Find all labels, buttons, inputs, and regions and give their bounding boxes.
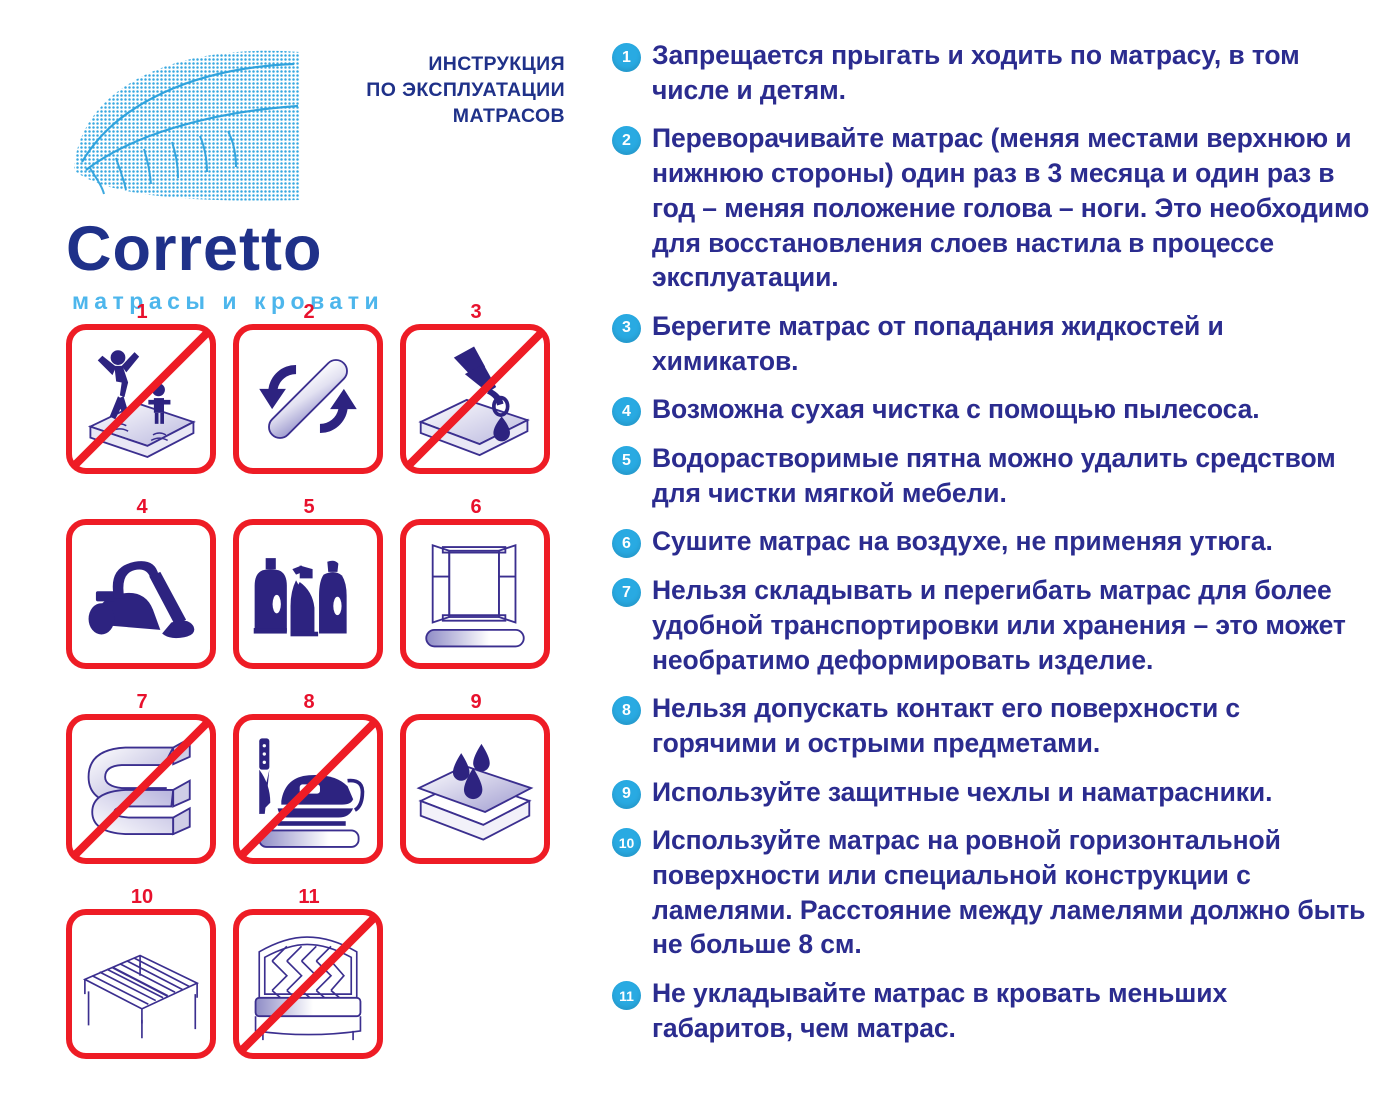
rule-badge: 7 <box>612 578 641 607</box>
page-title-line-1: ИНСТРУКЦИЯ <box>230 52 565 78</box>
rule-text: Используйте защитные чехлы и наматрасник… <box>652 775 1272 810</box>
rule-text: Водорастворимые пятна можно удалить сред… <box>652 441 1372 510</box>
flip-rotate-mattress-icon <box>233 324 383 474</box>
rule-text: Не укладывайте матрас в кровать меньших … <box>652 976 1372 1045</box>
page-title-line-2: ПО ЭКСПЛУАТАЦИИ <box>230 78 565 104</box>
upholstery-cleaners-allowed-icon <box>233 519 383 669</box>
pictogram-cell-3: 3 <box>400 300 552 474</box>
no-undersized-bed-frame-icon <box>233 909 383 1059</box>
pictogram-cell-4: 4 <box>66 495 218 669</box>
page-title: ИНСТРУКЦИЯ ПО ЭКСПЛУАТАЦИИ МАТРАСОВ <box>230 52 565 130</box>
rule-item-7: 7 Нельзя складывать и перегибать матрас … <box>612 573 1372 677</box>
rule-badge: 1 <box>612 43 641 72</box>
pictogram-number: 1 <box>66 300 218 324</box>
rule-item-11: 11 Не укладывайте матрас в кровать меньш… <box>612 976 1372 1045</box>
rule-item-8: 8 Нельзя допускать контакт его поверхнос… <box>612 691 1372 760</box>
pictogram-cell-11: 11 <box>233 885 385 1059</box>
air-dry-by-window-icon <box>400 519 550 669</box>
pictogram-row: 4 <box>60 495 580 690</box>
pictogram-row: 7 <box>60 690 580 885</box>
rule-item-4: 4 Возможна сухая чистка с помощью пылесо… <box>612 392 1372 427</box>
rule-text: Сушите матрас на воздухе, не применяя ут… <box>652 524 1273 559</box>
rule-badge: 8 <box>612 696 641 725</box>
left-column: Corretto матрасы и кровати ИНСТРУКЦИЯ ПО… <box>0 0 600 1120</box>
use-protective-cover-icon <box>400 714 550 864</box>
rule-badge: 5 <box>612 446 641 475</box>
no-hot-or-sharp-objects-icon <box>233 714 383 864</box>
pictogram-number: 7 <box>66 690 218 714</box>
rule-badge: 4 <box>612 397 641 426</box>
pictogram-cell-2: 2 <box>233 300 385 474</box>
pictogram-cell-8: 8 <box>233 690 385 864</box>
rule-badge: 6 <box>612 529 641 558</box>
rule-badge: 9 <box>612 780 641 809</box>
instruction-poster: Corretto матрасы и кровати ИНСТРУКЦИЯ ПО… <box>0 0 1400 1120</box>
pictogram-number: 3 <box>400 300 552 324</box>
rule-badge: 10 <box>612 828 641 857</box>
pictogram-cell-1: 1 <box>66 300 218 474</box>
no-liquids-on-mattress-icon <box>400 324 550 474</box>
slatted-bed-base-allowed-icon <box>66 909 216 1059</box>
rule-item-3: 3 Берегите матрас от попадания жидкостей… <box>612 309 1372 378</box>
no-folding-mattress-icon <box>66 714 216 864</box>
rule-badge: 3 <box>612 314 641 343</box>
page-title-line-3: МАТРАСОВ <box>230 104 565 130</box>
logo-wordmark: Corretto <box>66 218 323 281</box>
rule-item-5: 5 Водорастворимые пятна можно удалить ср… <box>612 441 1372 510</box>
rule-item-2: 2 Переворачивайте матрас (меняя местами … <box>612 121 1372 295</box>
pictogram-number: 6 <box>400 495 552 519</box>
pictogram-number: 8 <box>233 690 385 714</box>
pictogram-number: 5 <box>233 495 385 519</box>
rule-text: Возможна сухая чистка с помощью пылесоса… <box>652 392 1260 427</box>
pictogram-number: 2 <box>233 300 385 324</box>
no-jumping-on-mattress-icon <box>66 324 216 474</box>
rule-text: Берегите матрас от попадания жидкостей и… <box>652 309 1372 378</box>
pictogram-cell-10: 10 <box>66 885 218 1059</box>
rule-badge: 11 <box>612 981 641 1010</box>
vacuum-cleaning-allowed-icon <box>66 519 216 669</box>
pictogram-grid: 1 <box>60 300 580 1080</box>
pictogram-cell-9: 9 <box>400 690 552 864</box>
pictogram-cell-5: 5 <box>233 495 385 669</box>
rule-item-1: 1 Запрещается прыгать и ходить по матрас… <box>612 38 1372 107</box>
rule-item-10: 10 Используйте матрас на ровной горизонт… <box>612 823 1372 962</box>
rule-text: Нельзя допускать контакт его поверхности… <box>652 691 1372 760</box>
pictogram-row: 10 11 <box>60 885 580 1080</box>
pictogram-number: 9 <box>400 690 552 714</box>
rules-list: 1 Запрещается прыгать и ходить по матрас… <box>612 38 1372 1060</box>
rule-text: Используйте матрас на ровной горизонталь… <box>652 823 1372 962</box>
rule-text: Запрещается прыгать и ходить по матрасу,… <box>652 38 1372 107</box>
rule-text: Нельзя складывать и перегибать матрас дл… <box>652 573 1372 677</box>
pictogram-row: 1 <box>60 300 580 495</box>
rule-item-6: 6 Сушите матрас на воздухе, не применяя … <box>612 524 1372 559</box>
rule-badge: 2 <box>612 126 641 155</box>
rule-text: Переворачивайте матрас (меняя местами ве… <box>652 121 1372 295</box>
pictogram-cell-7: 7 <box>66 690 218 864</box>
pictogram-number: 4 <box>66 495 218 519</box>
rule-item-9: 9 Используйте защитные чехлы и наматрасн… <box>612 775 1372 810</box>
pictogram-number: 11 <box>233 885 385 909</box>
pictogram-number: 10 <box>66 885 218 909</box>
pictogram-cell-6: 6 <box>400 495 552 669</box>
